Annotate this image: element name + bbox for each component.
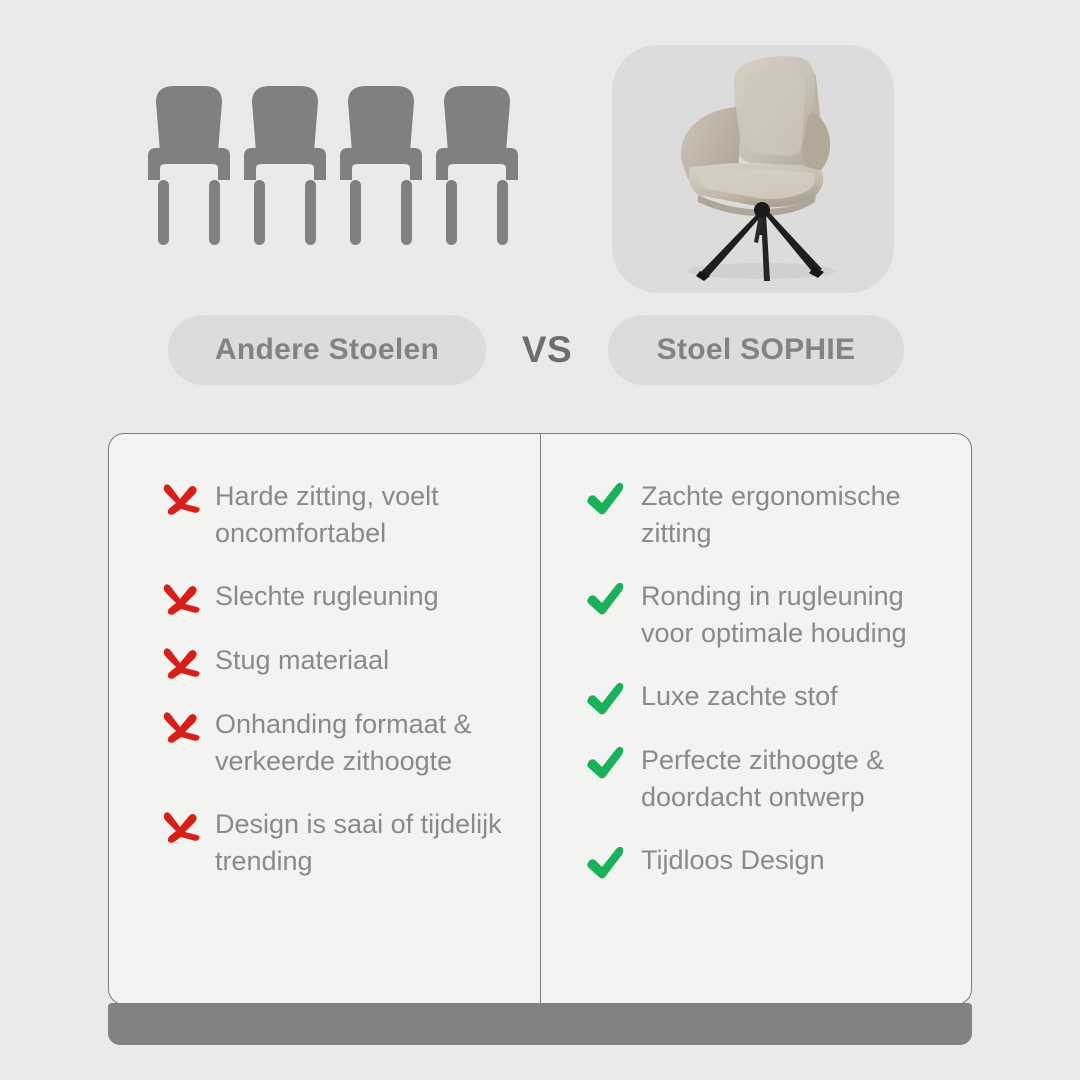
list-item-label: Perfecte zithoogte & doordacht ontwerp: [641, 742, 947, 816]
red-x-icon: [159, 646, 201, 680]
green-check-icon: [585, 582, 627, 616]
generic-chairs-icon: [148, 80, 528, 255]
red-x-icon: [159, 810, 201, 844]
product-chair-photo: [612, 45, 894, 293]
red-x-icon: [159, 482, 201, 516]
panel-base-bar: [108, 1003, 972, 1045]
label-other-chairs: Andere Stoelen: [215, 333, 439, 367]
list-item: Harde zitting, voelt oncomfortabel: [159, 478, 516, 552]
list-item-label: Zachte ergonomische zitting: [641, 478, 947, 552]
comparison-label-row: Andere Stoelen VS Stoel SOPHIE: [0, 315, 1080, 387]
list-item-label: Design is saai of tijdelijk trending: [215, 806, 516, 880]
pros-list: Zachte ergonomische zittingRonding in ru…: [565, 474, 947, 880]
green-check-icon: [585, 846, 627, 880]
list-item-label: Luxe zachte stof: [641, 678, 838, 715]
list-item: Tijdloos Design: [585, 842, 947, 880]
list-item: Ronding in rugleuning voor optimale houd…: [585, 578, 947, 652]
red-x-icon: [159, 582, 201, 616]
pros-card: Zachte ergonomische zittingRonding in ru…: [540, 433, 972, 1005]
green-check-icon: [585, 746, 627, 780]
list-item: Onhanding formaat & verkeerde zithoogte: [159, 706, 516, 780]
list-item: Slechte rugleuning: [159, 578, 516, 616]
list-item-label: Onhanding formaat & verkeerde zithoogte: [215, 706, 516, 780]
comparison-cards: Harde zitting, voelt oncomfortabelSlecht…: [108, 433, 972, 1005]
list-item-label: Stug materiaal: [215, 642, 389, 679]
list-item: Design is saai of tijdelijk trending: [159, 806, 516, 880]
red-x-icon: [159, 710, 201, 744]
list-item: Perfecte zithoogte & doordacht ontwerp: [585, 742, 947, 816]
cons-card: Harde zitting, voelt oncomfortabelSlecht…: [108, 433, 540, 1005]
versus-label: VS: [486, 315, 608, 385]
label-pill-sophie-chair: Stoel SOPHIE: [608, 315, 904, 385]
label-sophie-chair: Stoel SOPHIE: [657, 333, 856, 367]
label-pill-other-chairs: Andere Stoelen: [168, 315, 486, 385]
top-visual-row: [0, 0, 1080, 300]
list-item-label: Slechte rugleuning: [215, 578, 439, 615]
list-item: Luxe zachte stof: [585, 678, 947, 716]
list-item-label: Ronding in rugleuning voor optimale houd…: [641, 578, 947, 652]
list-item-label: Harde zitting, voelt oncomfortabel: [215, 478, 516, 552]
list-item: Stug materiaal: [159, 642, 516, 680]
green-check-icon: [585, 682, 627, 716]
list-item-label: Tijdloos Design: [641, 842, 825, 879]
cons-list: Harde zitting, voelt oncomfortabelSlecht…: [133, 474, 516, 880]
list-item: Zachte ergonomische zitting: [585, 478, 947, 552]
comparison-panel: Harde zitting, voelt oncomfortabelSlecht…: [108, 433, 972, 1045]
green-check-icon: [585, 482, 627, 516]
